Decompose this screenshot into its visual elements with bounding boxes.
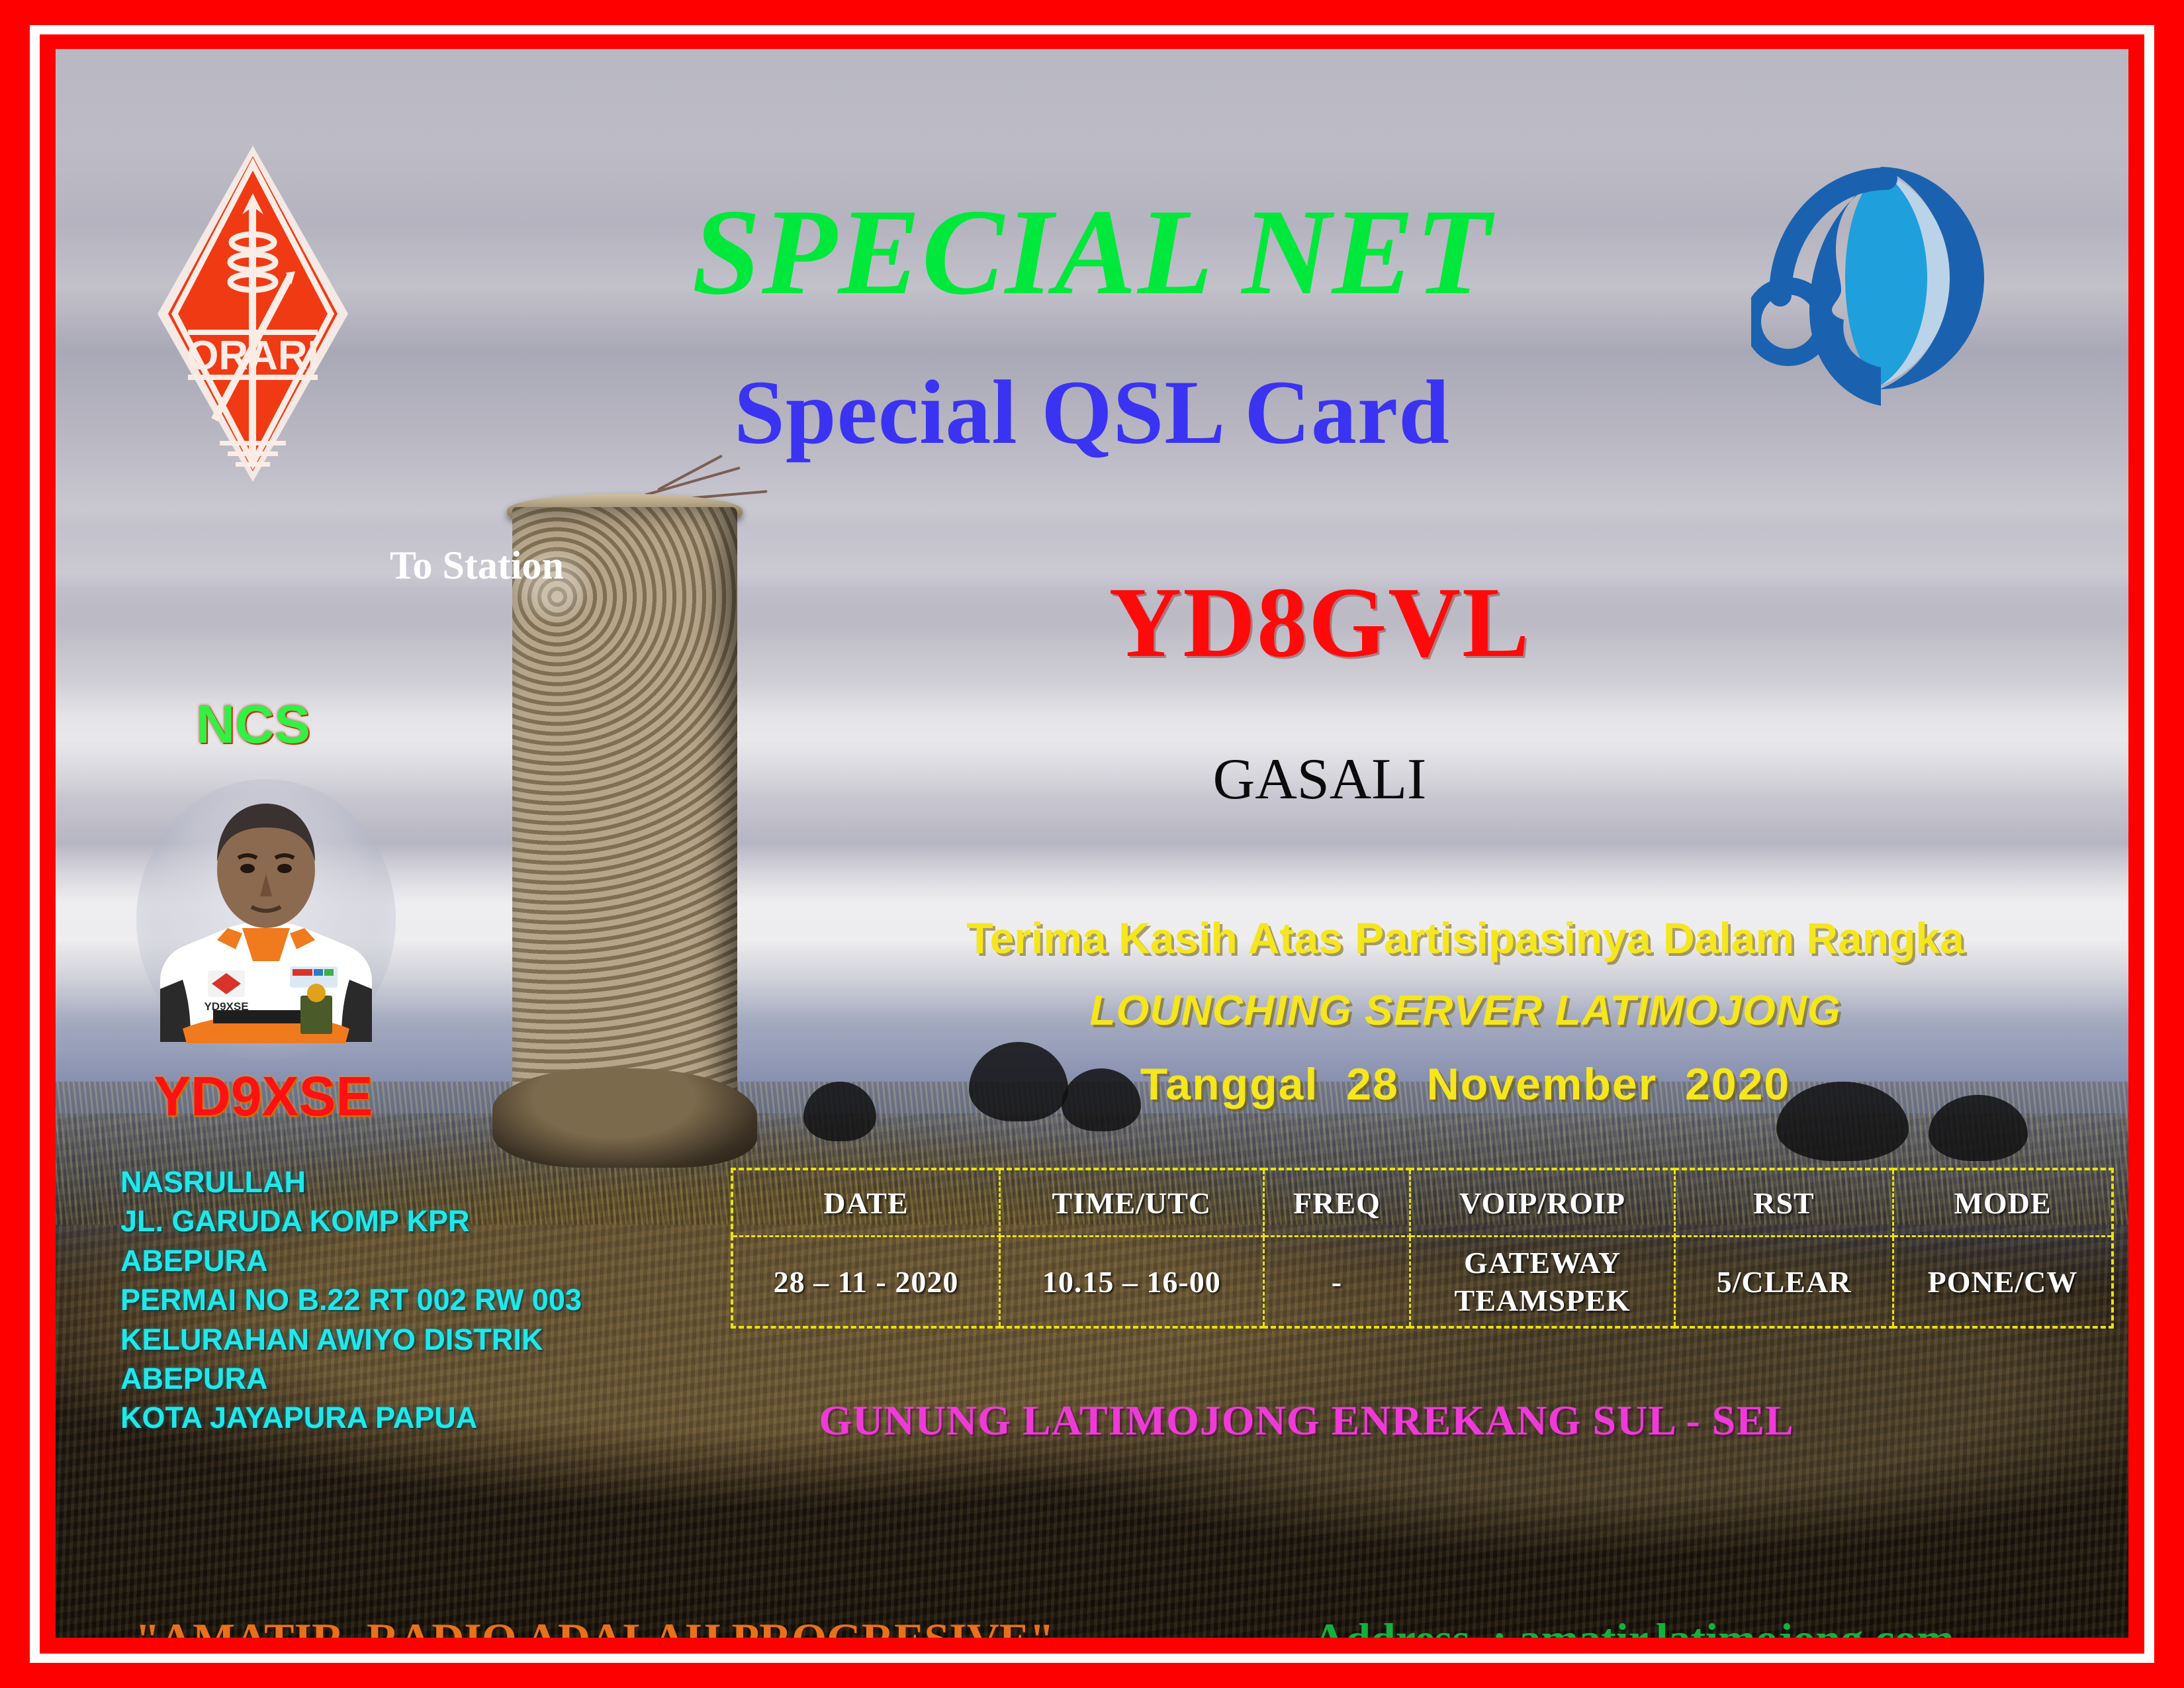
cell-date: 28 – 11 - 2020 xyxy=(732,1237,999,1328)
address-line: JL. GARUDA KOMP KPR xyxy=(120,1201,582,1241)
station-callsign: YD8GVL xyxy=(969,572,1670,673)
address-line: KELURAHAN AWIYO DISTRIK xyxy=(120,1320,582,1359)
thanks-message-line-1: Terima Kasih Atas Partisipasinya Dalam R… xyxy=(817,916,2114,960)
cell-voip: GATEWAY TEAMSPEK xyxy=(1410,1237,1675,1328)
address-line: KOTA JAYAPURA PAPUA xyxy=(120,1398,582,1437)
column-header-freq: FREQ xyxy=(1263,1169,1410,1237)
page-subtitle: Special QSL Card xyxy=(56,367,2128,458)
cell-time: 10.15 – 16-00 xyxy=(999,1237,1263,1328)
table-row: 28 – 11 - 2020 10.15 – 16-00 - GATEWAY T… xyxy=(732,1237,2113,1328)
qso-details-table: DATE TIME/UTC FREQ VOIP/ROIP RST MODE 28… xyxy=(731,1168,2114,1329)
card-frame-inner-red: ORARI xyxy=(40,34,2144,1654)
column-header-date: DATE xyxy=(732,1169,999,1237)
column-header-mode: MODE xyxy=(1893,1169,2113,1237)
cell-rst: 5/CLEAR xyxy=(1674,1237,1893,1328)
card-background-photo: ORARI xyxy=(56,49,2128,1638)
cell-freq: - xyxy=(1263,1237,1410,1328)
slogan-text: "AMATIR RADIO ADALAH PROGRESIVE" xyxy=(135,1617,1054,1638)
table-header-row: DATE TIME/UTC FREQ VOIP/ROIP RST MODE xyxy=(732,1169,2113,1237)
address-line: NASRULLAH xyxy=(120,1162,582,1201)
ncs-operator-photo: YD9XSE xyxy=(134,777,398,1062)
website-address: Address : amatir.latimojong.com xyxy=(1313,1617,1954,1638)
svg-text:YD9XSE: YD9XSE xyxy=(204,1000,248,1013)
address-line: ABEPURA xyxy=(120,1241,582,1280)
event-date: Tanggal 28 November 2020 xyxy=(817,1062,2114,1107)
card-frame-white: ORARI xyxy=(30,25,2154,1663)
column-header-voip: VOIP/ROIP xyxy=(1410,1169,1675,1237)
event-name: LOUNCHING SERVER LATIMOJONG xyxy=(817,989,2114,1031)
cell-mode: PONE/CW xyxy=(1893,1237,2113,1328)
column-header-rst: RST xyxy=(1674,1169,1893,1237)
address-line: PERMAI NO B.22 RT 002 RW 003 xyxy=(120,1280,582,1319)
location-label: GUNUNG LATIMOJONG ENREKANG SUL - SEL xyxy=(678,1399,1935,1442)
to-station-label: To Station xyxy=(390,545,564,585)
pillar-base-rocks xyxy=(492,1068,757,1168)
address-line: ABEPURA xyxy=(120,1359,582,1398)
address-block: NASRULLAH JL. GARUDA KOMP KPR ABEPURA PE… xyxy=(120,1162,582,1438)
operator-name: GASALI xyxy=(969,751,1670,809)
pillar-shaft xyxy=(512,507,737,1148)
column-header-time: TIME/UTC xyxy=(999,1169,1263,1237)
page-title: SPECIAL NET xyxy=(56,191,2128,314)
qsl-card: ORARI xyxy=(0,0,2184,1688)
ncs-label: NCS xyxy=(196,698,310,752)
ncs-callsign: YD9XSE xyxy=(154,1068,373,1124)
